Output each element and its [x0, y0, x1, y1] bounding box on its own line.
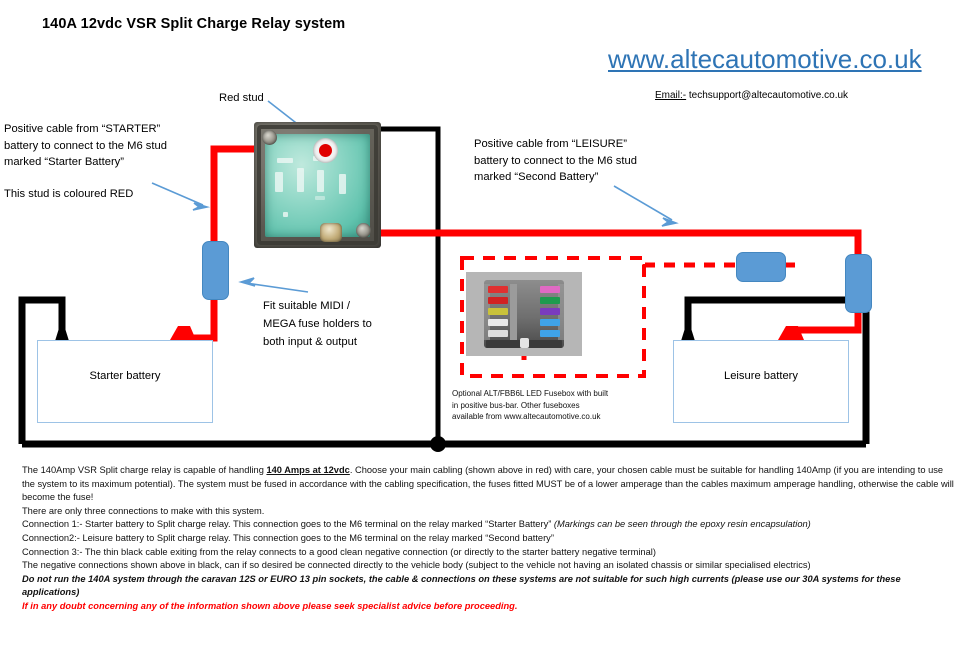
- p1-part-a: The 140Amp VSR Split charge relay is cap…: [22, 465, 266, 475]
- negative-junction-dot: [430, 436, 446, 452]
- callout-fuse-holders: Fit suitable MIDI / MEGA fuse holders to…: [263, 297, 383, 351]
- callout-leisure-cable: Positive cable from “LEISURE” battery to…: [474, 136, 654, 186]
- callout-red-stud-note: This stud is coloured RED: [4, 186, 179, 203]
- instructions-paragraph-2: There are only three connections to make…: [22, 505, 957, 519]
- instructions-connection-2: Connection2:- Leisure battery to Split c…: [22, 532, 957, 546]
- fusebox-caption: Optional ALT/FBB6L LED Fusebox with buil…: [452, 388, 612, 423]
- terminal-negative-leisure: [681, 325, 695, 341]
- leisure-battery-label: Leisure battery: [674, 370, 848, 382]
- terminal-negative-starter: [55, 325, 69, 341]
- instructions-text: The 140Amp VSR Split charge relay is cap…: [22, 464, 957, 614]
- p1-highlight: 140 Amps at 12vdc: [266, 465, 349, 475]
- starter-battery-label: Starter battery: [38, 370, 212, 382]
- relay-screw-hole-bottomright: [356, 223, 371, 238]
- instructions-paragraph-1: The 140Amp VSR Split charge relay is cap…: [22, 464, 957, 505]
- instructions-connection-1: Connection 1:- Starter battery to Split …: [22, 518, 957, 532]
- callout-starter-cable-text: Positive cable from “STARTER” battery to…: [4, 121, 179, 171]
- instructions-warning-sockets: Do not run the 140A system through the c…: [22, 573, 957, 600]
- arrow-fuse-holder: [246, 283, 308, 292]
- fusebox-photo: [466, 272, 582, 356]
- instructions-negative-note: The negative connections shown above in …: [22, 559, 957, 573]
- starter-battery-box: Starter battery: [37, 340, 213, 423]
- leisure-battery-box: Leisure battery: [673, 340, 849, 423]
- fuse-holder-output-inner[interactable]: [736, 252, 786, 282]
- instructions-warning-advice: If in any doubt concerning any of the in…: [22, 600, 957, 614]
- instructions-connection-3: Connection 3:- The thin black cable exit…: [22, 546, 957, 560]
- connection1-text: Connection 1:- Starter battery to Split …: [22, 519, 554, 529]
- callout-starter-cable: Positive cable from “STARTER” battery to…: [4, 121, 179, 202]
- stud-second-battery: [320, 223, 342, 242]
- relay-screw-hole-topleft: [262, 130, 277, 145]
- red-stud-label: Red stud: [219, 92, 264, 104]
- fusebox-body: [484, 280, 564, 348]
- fuse-holder-leisure-side[interactable]: [845, 254, 872, 313]
- fuse-holder-starter-side[interactable]: [202, 241, 229, 300]
- connection1-note: (Markings can be seen through the epoxy …: [554, 519, 811, 529]
- arrow-right-callout: [614, 186, 672, 220]
- stud-starter-battery-red-cap: [319, 144, 332, 157]
- terminal-positive-starter: [170, 326, 196, 340]
